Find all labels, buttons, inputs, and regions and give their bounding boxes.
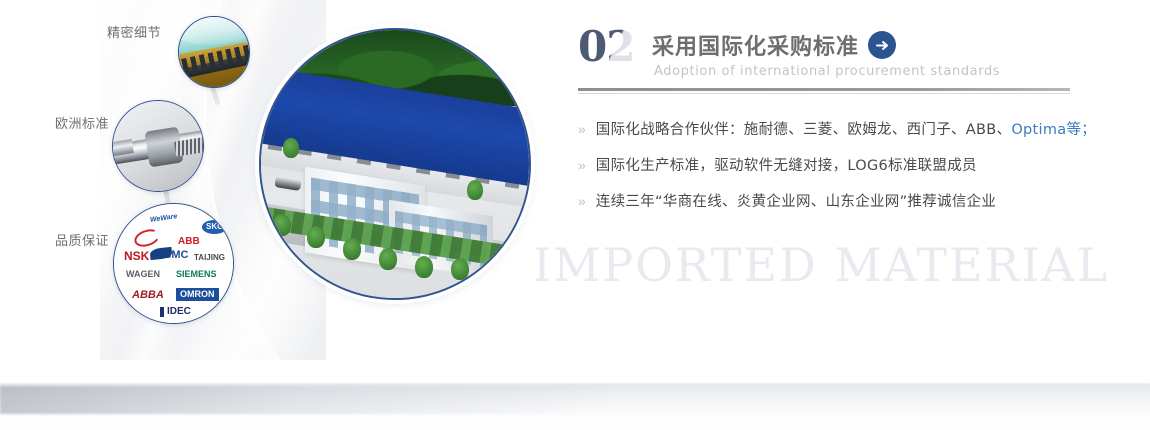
watermark-text: IMPORTED MATERIAL	[533, 238, 1109, 292]
section-header: 02 采用国际化采购标准 Adoption of international p…	[578, 22, 1118, 84]
list-item: » 国际化生产标准，驱动软件无缝对接，LOG6标准联盟成员	[578, 154, 1098, 175]
right-content-block: 02 采用国际化采购标准 Adoption of international p…	[578, 22, 1118, 84]
list-item-text: 国际化生产标准，驱动软件无缝对接，LOG6标准联盟成员	[596, 154, 977, 175]
label-european-standard: 欧洲标准	[55, 113, 109, 132]
brand-logo: SIEMENS	[176, 270, 217, 279]
bullet-marker-icon: »	[578, 193, 586, 209]
list-item-text-main: 国际化战略合作伙伴：施耐德、三菱、欧姆龙、西门子、ABB、	[596, 122, 1012, 138]
tree-7	[451, 258, 469, 280]
bullet-marker-icon: »	[578, 121, 586, 137]
list-item: » 国际化战略合作伙伴：施耐德、三菱、欧姆龙、西门子、ABB、Optima等；	[578, 118, 1098, 139]
brand-logo: IDEC	[160, 307, 191, 317]
arrow-right-circle-icon[interactable]	[868, 31, 896, 59]
page-subtitle: Adoption of international procurement st…	[654, 64, 1000, 79]
tree-4	[343, 238, 361, 260]
label-precision-detail: 精密细节	[107, 22, 161, 41]
brand-logo: ABBA	[132, 290, 164, 301]
list-item-highlight: Optima等；	[1011, 122, 1096, 138]
tree-6	[415, 256, 433, 278]
section-number: 02	[578, 26, 634, 68]
tree-8	[467, 180, 483, 200]
tree-5	[379, 248, 397, 270]
list-item: » 连续三年“华商在线、炎黄企业网、山东企业网”推荐诚信企业	[578, 190, 1098, 211]
tree-2	[273, 214, 291, 236]
brand-logo: WAGEN	[126, 270, 160, 279]
page-title: 采用国际化采购标准	[652, 29, 859, 61]
precision-detail-image	[178, 16, 250, 88]
feature-bullet-list: » 国际化战略合作伙伴：施耐德、三菱、欧姆龙、西门子、ABB、Optima等； …	[578, 118, 1098, 226]
header-divider	[578, 88, 1070, 91]
label-quality-guarantee: 品质保证	[55, 230, 109, 249]
tree-3	[307, 226, 325, 248]
european-standard-image	[112, 100, 204, 192]
list-item-text: 国际化战略合作伙伴：施耐德、三菱、欧姆龙、西门子、ABB、Optima等；	[596, 118, 1096, 139]
brand-logo: ABB	[178, 237, 200, 247]
bottom-band-sheen	[0, 386, 780, 414]
tree-1	[283, 138, 299, 158]
quality-brands-image: WeWareSKOABBNSKSMCTAIJINGWAGENSIEMENSABB…	[113, 203, 234, 324]
brand-logo: OMRON	[176, 288, 219, 301]
brand-logo: NSK	[124, 250, 149, 262]
bullet-marker-icon: »	[578, 157, 586, 173]
header-divider-thin	[578, 93, 1070, 94]
brand-logo: TAIJING	[194, 254, 225, 262]
list-item-text: 连续三年“华商在线、炎黄企业网、山东企业网”推荐诚信企业	[596, 190, 996, 211]
factory-photo	[259, 28, 531, 300]
